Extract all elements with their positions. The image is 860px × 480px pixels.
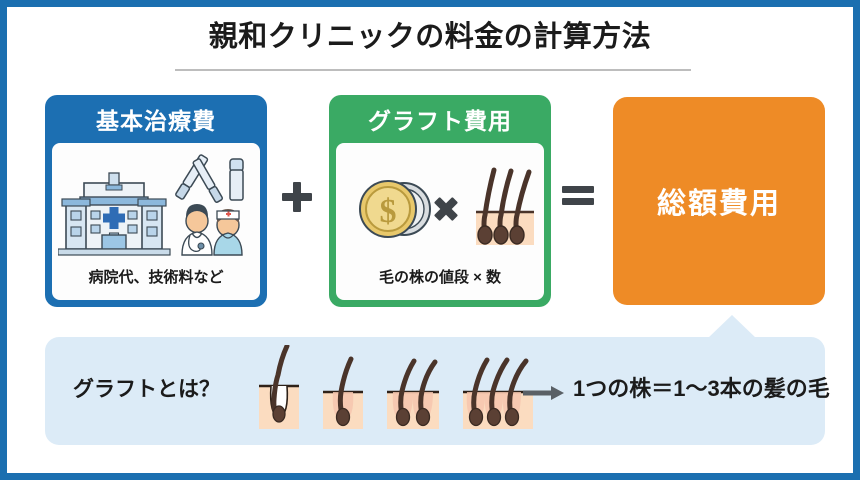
- hair-graft-icon: [476, 170, 534, 245]
- card-basic-heading: 基本治療費: [45, 95, 267, 143]
- card-total-cost: 総額費用: [613, 97, 825, 305]
- follicle-1-hair-cross-section-icon: [253, 345, 305, 431]
- multiply-icon: [434, 196, 458, 220]
- graft-question-label: グラフトとは？: [73, 373, 220, 403]
- card-graft-body: $: [336, 143, 544, 300]
- card-graft-caption: 毛の株の値段 × 数: [379, 266, 501, 300]
- arrow-right-icon: [523, 385, 565, 406]
- follicle-2-hairs-icon: [381, 345, 445, 431]
- page-frame: 親和クリニックの料金の計算方法 基本治療費: [0, 0, 860, 480]
- surgical-tools-icon: [175, 154, 243, 203]
- total-cost-label: 総額費用: [657, 180, 781, 222]
- gold-coin-icon: $: [360, 181, 430, 237]
- card-basic-treatment-fee: 基本治療費: [45, 95, 267, 307]
- follicle-illustration-group: [253, 345, 539, 431]
- graft-fee-illustration: $: [342, 155, 538, 255]
- equals-operator-icon: [559, 177, 597, 220]
- plus-operator-icon: [279, 179, 315, 222]
- graft-explanation-panel: グラフトとは？: [45, 337, 825, 445]
- diagram-canvas: 親和クリニックの料金の計算方法 基本治療費: [7, 7, 853, 473]
- panel-notch-arrow-icon: [707, 315, 757, 339]
- title-underline: [175, 69, 691, 71]
- svg-text:$: $: [380, 193, 397, 230]
- basic-treatment-illustration: [58, 153, 254, 257]
- follicle-1-hair-icon: [317, 345, 369, 431]
- card-basic-artwork: [52, 143, 260, 266]
- page-title: 親和クリニックの料金の計算方法: [7, 21, 853, 54]
- doctor-nurse-icon: [182, 204, 242, 255]
- graft-answer-label: 1つの株＝1〜3本の髪の毛: [573, 371, 830, 403]
- card-basic-caption: 病院代、技術料など: [88, 266, 223, 300]
- page-title-text: 親和クリニックの料金の計算方法: [209, 21, 652, 54]
- card-basic-body: 病院代、技術料など: [52, 143, 260, 300]
- hospital-building-icon: [58, 173, 170, 255]
- card-graft-fee: グラフト費用 $: [329, 95, 551, 307]
- card-graft-heading: グラフト費用: [329, 95, 551, 143]
- card-graft-artwork: $: [336, 143, 544, 266]
